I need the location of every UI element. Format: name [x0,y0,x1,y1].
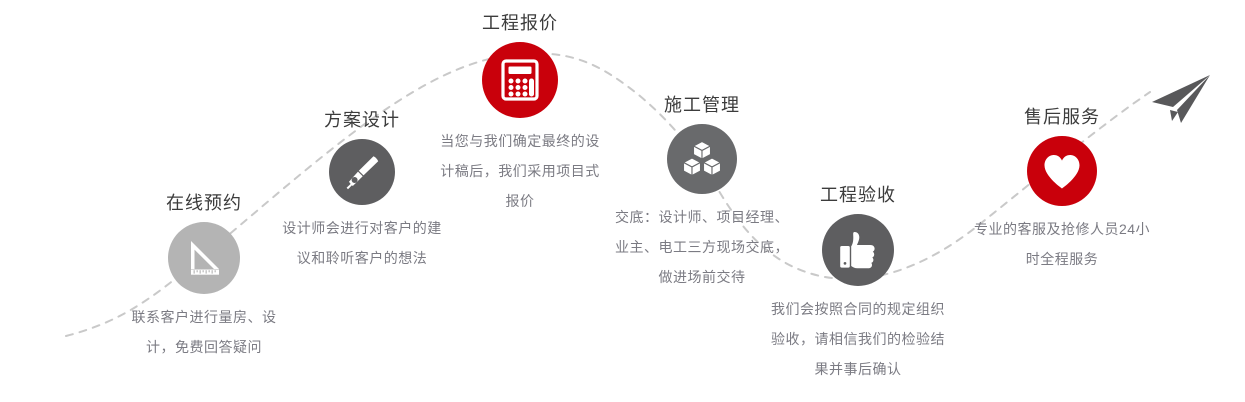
heart-icon [1042,152,1082,190]
flow-step-6-title: 售后服务 [962,104,1162,130]
pen-nib-icon [342,152,382,192]
flow-step-4-circle [667,124,737,194]
flow-step-6-circle [1027,136,1097,206]
flow-step-4-title: 施工管理 [602,92,802,118]
flow-step-2-circle [329,139,395,205]
ruler-triangle-icon [182,236,226,280]
calculator-icon [499,58,541,102]
flow-step-6-desc: 专业的客服及抢修人员24小时全程服务 [962,214,1162,274]
thumbs-up-icon [837,229,879,271]
flow-step-3-desc: 当您与我们确定最终的设计稿后，我们采用项目式报价 [420,126,620,216]
flow-step-3-title: 工程报价 [420,10,620,36]
flow-step-5-circle [822,214,894,286]
flow-step-6[interactable]: 售后服务 专业的客服及抢修人员24小时全程服务 [962,104,1162,274]
flow-step-6-icon-wrap [962,136,1162,206]
process-flow-diagram: 在线预约 [0,0,1245,402]
flow-step-3-circle [482,42,558,118]
flow-step-5-icon-wrap [758,214,958,286]
flow-step-5-desc: 我们会按照合同的规定组织验收，请相信我们的检验结果并事后确认 [758,294,958,384]
flow-step-1-desc: 联系客户进行量房、设计，免费回答疑问 [104,302,304,362]
flow-step-5[interactable]: 工程验收 我们会按照合同的规定组织验收，请相信我们的检验结果并事后确认 [758,182,958,384]
flow-step-3-icon-wrap [420,42,620,118]
flow-step-3[interactable]: 工程报价 [420,10,620,216]
cubes-icon [681,139,723,179]
flow-step-1-circle [168,222,240,294]
flow-step-5-title: 工程验收 [758,182,958,208]
flow-step-2-desc: 设计师会进行对客户的建议和聆听客户的想法 [262,213,462,273]
